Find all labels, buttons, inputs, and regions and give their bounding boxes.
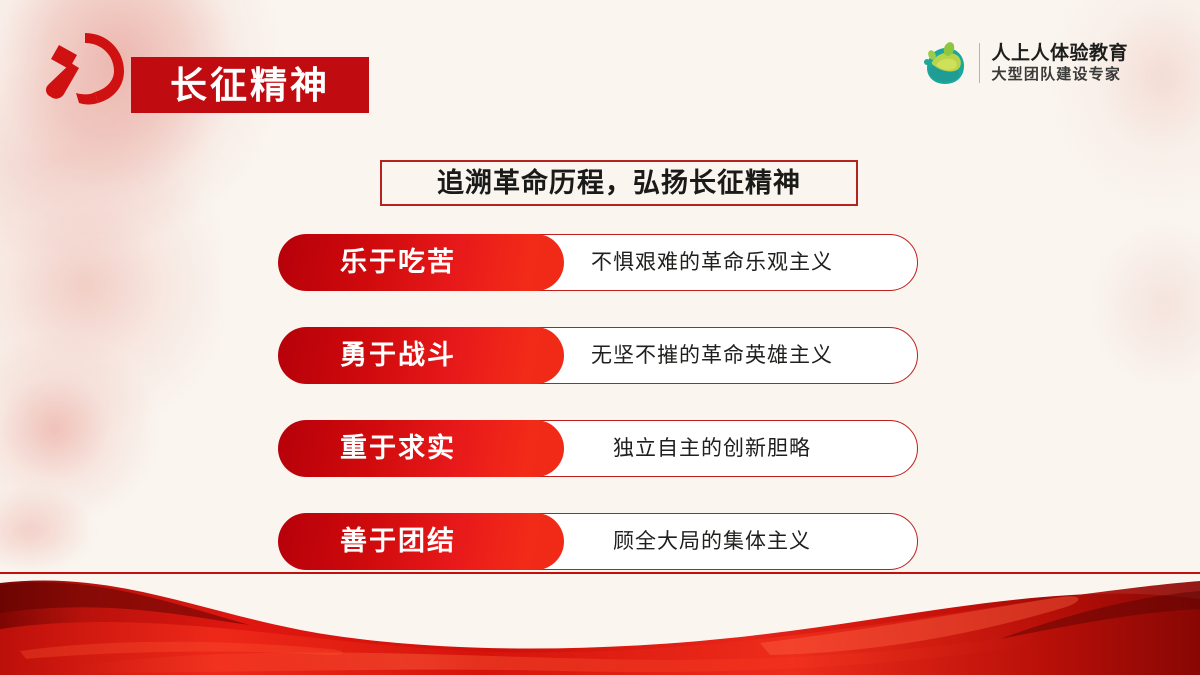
spirit-description-pill: 无坚不摧的革命英雄主义 (506, 327, 918, 384)
spirit-description: 顾全大局的集体主义 (613, 531, 811, 552)
spirit-label-pill[interactable]: 重于求实 (278, 420, 564, 477)
brand-logo: 人上人体验教育 大型团队建设专家 (918, 38, 1128, 88)
brand-name: 人上人体验教育 (991, 44, 1128, 64)
page-title-box: 长征精神 (131, 57, 369, 113)
spirit-label: 勇于战斗 (340, 342, 456, 369)
spirit-label-pill[interactable]: 乐于吃苦 (278, 234, 564, 291)
spirit-description-pill: 顾全大局的集体主义 (506, 513, 918, 570)
watercolor-wash-left-middle (0, 150, 220, 450)
subtitle-box: 追溯革命历程，弘扬长征精神 (380, 160, 858, 206)
list-item[interactable]: 无坚不摧的革命英雄主义 勇于战斗 (278, 327, 918, 384)
brand-tagline: 大型团队建设专家 (991, 67, 1128, 83)
page-title: 长征精神 (170, 67, 330, 104)
list-item[interactable]: 不惧艰难的革命乐观主义 乐于吃苦 (278, 234, 918, 291)
watercolor-wash-right-top (1030, 0, 1200, 220)
spirit-description: 不惧艰难的革命乐观主义 (591, 252, 833, 273)
red-silk-wave-icon (0, 555, 1200, 675)
hammer-and-sickle-icon (38, 27, 134, 113)
brand-text: 人上人体验教育 大型团队建设专家 (991, 44, 1128, 83)
brand-divider (979, 43, 980, 83)
spirit-list: 不惧艰难的革命乐观主义 乐于吃苦 无坚不摧的革命英雄主义 勇于战斗 独立自主的创… (278, 234, 918, 570)
spirit-label: 善于团结 (340, 528, 456, 555)
spirit-description-pill: 不惧艰难的革命乐观主义 (506, 234, 918, 291)
leaf-circle-logo-icon (918, 38, 968, 88)
spirit-label: 乐于吃苦 (340, 249, 456, 276)
watercolor-wash-left-lower (0, 330, 170, 530)
list-item[interactable]: 顾全大局的集体主义 善于团结 (278, 513, 918, 570)
subtitle-text: 追溯革命历程，弘扬长征精神 (437, 170, 801, 197)
slide-canvas: 长征精神 人上人体验教育 大型团队建设专家 追溯革命历程，弘扬长征精神 (0, 0, 1200, 675)
watercolor-wash-right-lower (1060, 200, 1200, 410)
spirit-label-pill[interactable]: 善于团结 (278, 513, 564, 570)
spirit-description-pill: 独立自主的创新胆略 (506, 420, 918, 477)
spirit-label-pill[interactable]: 勇于战斗 (278, 327, 564, 384)
spirit-description: 无坚不摧的革命英雄主义 (591, 345, 833, 366)
spirit-description: 独立自主的创新胆略 (613, 438, 811, 459)
spirit-label: 重于求实 (340, 435, 456, 462)
list-item[interactable]: 独立自主的创新胆略 重于求实 (278, 420, 918, 477)
